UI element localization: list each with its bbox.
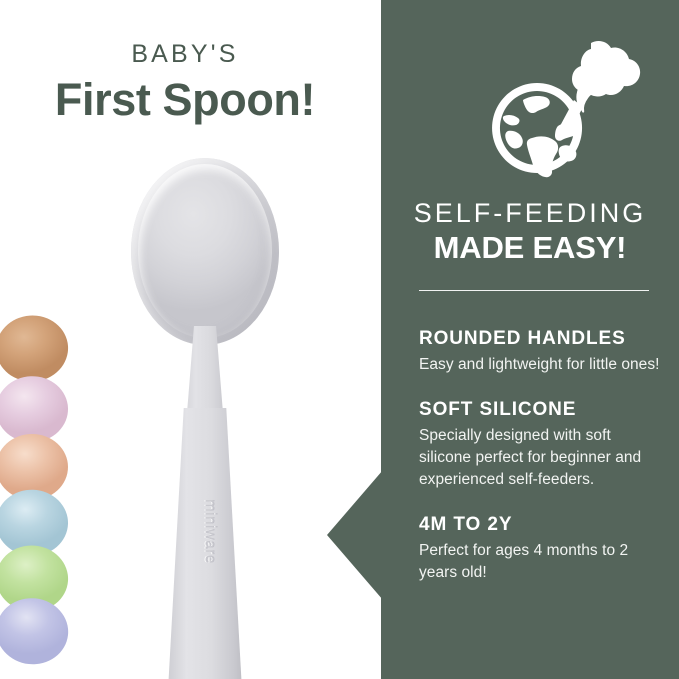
- heading-divider: [419, 290, 649, 291]
- feature-body: Specially designed with soft silicone pe…: [419, 425, 661, 491]
- feature-item-soft-silicone: SOFT SILICONE Specially designed with so…: [419, 399, 661, 491]
- page-title: First Spoon!: [0, 76, 370, 123]
- product-infographic: BABY'S First Spoon!: [0, 0, 679, 679]
- feature-item-age-range: 4M TO 2Y Perfect for ages 4 months to 2 …: [419, 514, 661, 584]
- feature-title: SOFT SILICONE: [419, 399, 661, 421]
- hero-spoon-bowl: [131, 158, 279, 345]
- hero-spoon-product: miniware: [131, 158, 279, 679]
- left-panel: BABY'S First Spoon!: [0, 0, 381, 679]
- panel-heading-line1: SELF-FEEDING: [381, 199, 679, 227]
- fan-spoon-bowl: [0, 595, 71, 668]
- feature-body: Easy and lightweight for little ones!: [419, 354, 661, 376]
- headline-block: BABY'S First Spoon!: [0, 42, 370, 123]
- headline-eyebrow: BABY'S: [0, 42, 370, 67]
- right-panel: SELF-FEEDING MADE EASY! ROUNDED HANDLES …: [381, 0, 679, 679]
- fan-spoon-bowl: [0, 313, 70, 384]
- feature-item-rounded-handles: ROUNDED HANDLES Easy and lightweight for…: [419, 328, 661, 376]
- panel-heading: SELF-FEEDING MADE EASY!: [381, 199, 679, 265]
- panel-heading-line2: MADE EASY!: [381, 232, 679, 265]
- globe-sprout-icon: [482, 28, 642, 188]
- feature-body: Perfect for ages 4 months to 2 years old…: [419, 540, 661, 584]
- feature-title: ROUNDED HANDLES: [419, 328, 661, 350]
- feature-title: 4M TO 2Y: [419, 514, 661, 536]
- hero-spoon-handle: [167, 408, 243, 679]
- feature-list: ROUNDED HANDLES Easy and lightweight for…: [419, 328, 661, 584]
- hero-spoon-bowl-rim: [138, 164, 272, 338]
